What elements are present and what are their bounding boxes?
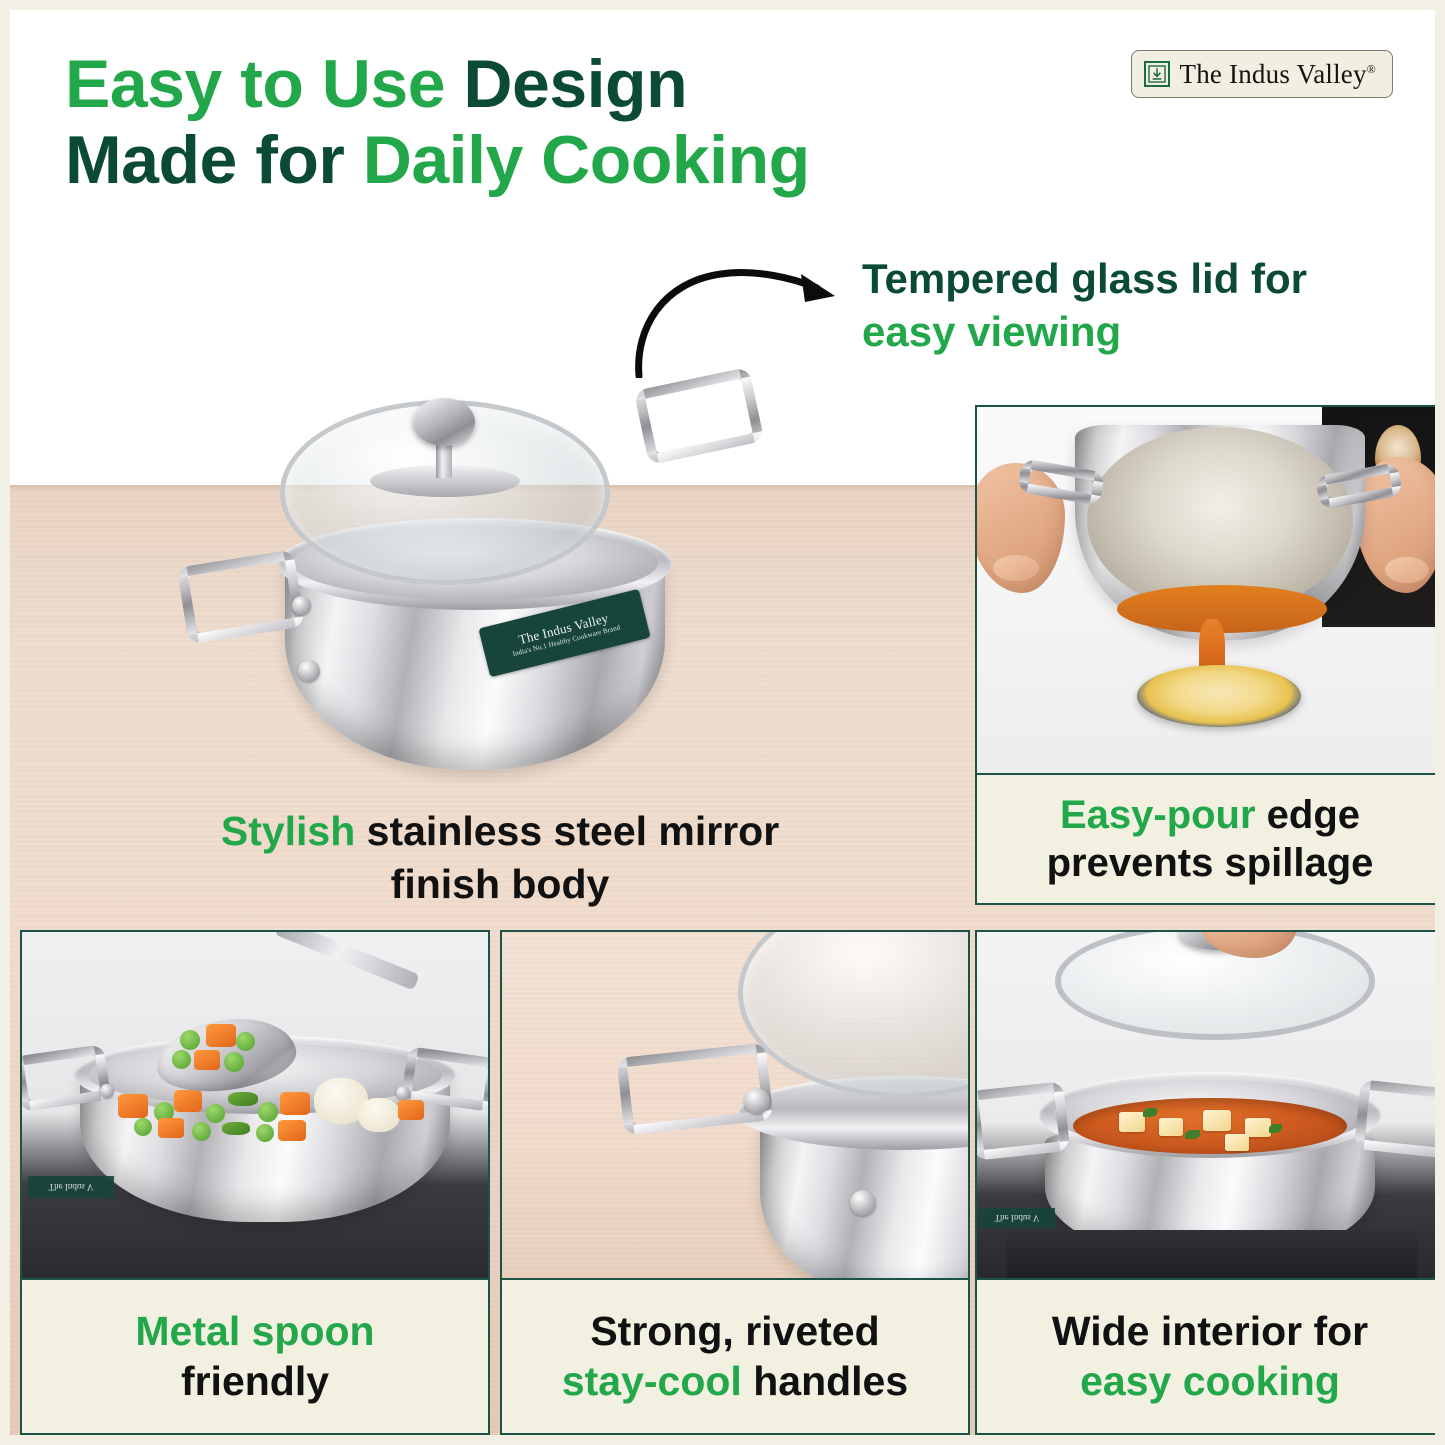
veg-rivet-left [100,1084,114,1098]
veg-cauliflower-2 [358,1098,400,1132]
veg-pea-5 [192,1122,211,1141]
paneer-cube-5 [1225,1134,1249,1151]
brand-name: The Indus Valley [1180,59,1367,89]
handle-caption-black: handles [742,1358,908,1404]
hero-product-photo: The Indus Valley India's No.1 Healthy Co… [170,370,770,800]
headline-2-dark: Made for [65,122,344,198]
metal-spoon-photo: The Indus V [22,932,488,1278]
infographic-frame: Easy to Use Design Made for Daily Cookin… [10,10,1435,1435]
hero-caption-line-2: finish body [100,858,900,911]
callout-line-2: easy viewing [862,305,1307,358]
spoon-caption-line-2: friendly [30,1357,480,1406]
indus-valley-mark-icon [1144,61,1170,87]
spoon-veg-carrot-2 [194,1050,220,1070]
kadai-handle-right [633,367,764,466]
veg-carrot-6 [278,1120,306,1141]
brand-logo: The Indus Valley® [1131,50,1394,98]
veg-pea-3 [258,1102,278,1122]
feature-panel-easy-pour: Easy-pour edge prevents spillage [975,405,1435,905]
curry-handle-right [1354,1079,1435,1159]
paneer-cube-4 [1245,1118,1271,1137]
headline-2-green: Daily Cooking [344,122,809,198]
lid-knob [413,398,475,446]
hero-caption: Stylish stainless steel mirror finish bo… [100,805,900,912]
headline-1-green: Easy to Use [65,46,445,122]
handle-rivet-2 [298,660,320,682]
spoon-veg-pea-2 [236,1032,255,1051]
coriander-2 [1185,1130,1200,1139]
headline-1-dark: Design [445,46,687,122]
paneer-cube-3 [1203,1110,1231,1131]
spoon-veg-pea-3 [172,1050,191,1069]
induction-stove [1007,1230,1417,1278]
veg-carrot-3 [280,1092,310,1115]
headline-line-1: Easy to Use Design [65,46,810,122]
spoon-veg-carrot-1 [206,1024,236,1047]
spoon-veg-pea-4 [224,1052,244,1072]
metal-spoon-caption: Metal spoon friendly [22,1278,488,1433]
curved-arrow-up-right-icon [625,258,855,383]
veg-rivet-right [396,1086,410,1100]
handle-rivet-upper [744,1088,770,1114]
serving-bowl [1137,665,1301,727]
veg-pea-2 [206,1104,225,1123]
infographic-root: Easy to Use Design Made for Daily Cookin… [0,0,1445,1445]
veg-carrot-2 [174,1090,202,1112]
coriander-1 [1143,1108,1157,1117]
veg-pea-4 [134,1118,152,1136]
brand-logo-text: The Indus Valley® [1180,59,1377,90]
handle-caption-line-1: Strong, riveted [510,1307,960,1356]
veg-carrot-4 [398,1100,424,1120]
wide-interior-photo: The Indus V [977,932,1435,1278]
veg-pan-side-label: The Indus V [28,1176,114,1198]
paneer-cube-1 [1119,1112,1145,1132]
wide-caption-line-1: Wide interior for [985,1307,1435,1356]
handle-rivet-lower [850,1190,876,1216]
veg-bean-1 [228,1092,258,1106]
veg-carrot-1 [118,1094,148,1118]
veg-pea-6 [256,1124,274,1142]
coriander-3 [1269,1124,1282,1133]
page-title: Easy to Use Design Made for Daily Cookin… [65,46,810,198]
feature-panel-wide-interior: The Indus V Wide interior for easy cooki… [975,930,1435,1435]
brand-trademark: ® [1367,62,1376,76]
wide-interior-caption: Wide interior for easy cooking [977,1278,1435,1433]
spoon-veg-pea-1 [180,1030,200,1050]
finger-left [993,555,1039,581]
pour-caption-line-1: Easy-pour edge [985,791,1435,839]
veg-bean-2 [222,1122,250,1135]
callout-lid-text: Tempered glass lid for easy viewing [862,252,1307,359]
curry-handle-left [977,1081,1070,1161]
headline-line-2: Made for Daily Cooking [65,122,810,198]
pour-caption-black: edge [1256,793,1360,837]
wide-caption-line-2: easy cooking [985,1357,1435,1406]
curry-pan-side-label: The Indus V [979,1208,1055,1228]
finger-right [1385,557,1429,583]
handle-caption-green: stay-cool [562,1358,742,1404]
hero-caption-black: stainless steel mirror [355,808,779,854]
callout-line-1: Tempered glass lid for [862,252,1307,305]
easy-pour-photo [977,407,1435,773]
feature-panel-metal-spoon: The Indus V Metal spoon friendly [20,930,490,1435]
handle-caption: Strong, riveted stay-cool handles [502,1278,968,1433]
pour-caption-line-2: prevents spillage [985,839,1435,887]
easy-pour-caption: Easy-pour edge prevents spillage [977,773,1435,903]
hero-caption-line-1: Stylish stainless steel mirror [100,805,900,858]
feature-panel-handles: Strong, riveted stay-cool handles [500,930,970,1435]
handle-caption-line-2: stay-cool handles [510,1357,960,1406]
handle-photo [502,932,968,1278]
hero-caption-green: Stylish [221,808,355,854]
paneer-cube-2 [1159,1118,1183,1136]
veg-carrot-5 [158,1118,184,1138]
spoon-caption-line-1: Metal spoon [30,1307,480,1356]
pour-caption-green: Easy-pour [1060,793,1256,837]
handle-rivet-1 [292,596,311,615]
